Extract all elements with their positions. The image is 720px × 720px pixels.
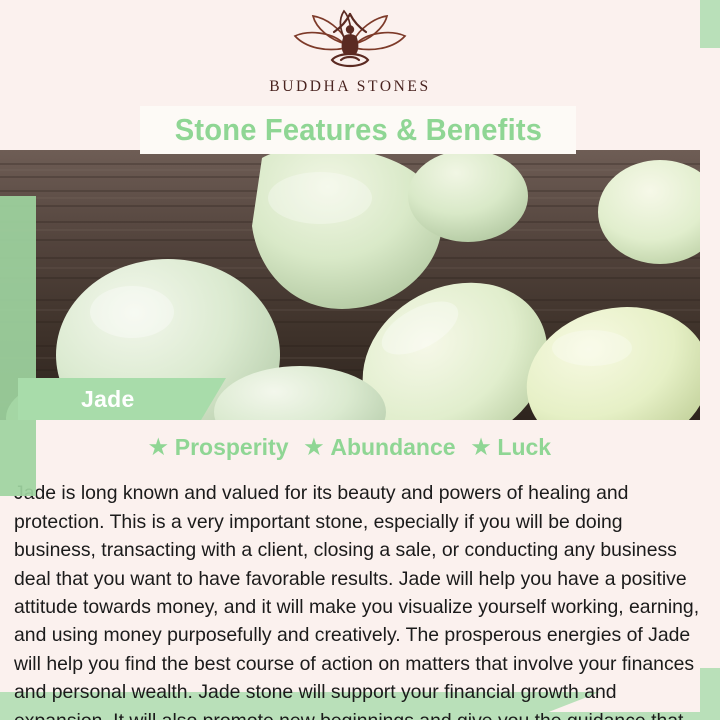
star-icon: ★ [472,437,491,458]
star-icon: ★ [149,437,168,458]
keyword-list: ★ Prosperity ★ Abundance ★ Luck [0,430,700,464]
left-green-accent [0,196,36,496]
infographic-page: BUDDHA STONES Stone Features & Benefits [0,0,720,720]
stone-name: Jade [81,386,135,413]
keyword-prosperity: ★ Prosperity [149,434,289,461]
stone-description: Jade is long known and valued for its be… [14,479,704,720]
keyword-luck: ★ Luck [472,434,552,461]
keyword-abundance: ★ Abundance [305,434,456,461]
keyword-label: Prosperity [175,434,289,461]
title-banner: Stone Features & Benefits [140,106,576,154]
brand-logo: BUDDHA STONES [0,8,700,113]
brand-name: BUDDHA STONES [269,78,430,96]
stone-name-band: Jade [18,378,226,420]
keyword-label: Abundance [330,434,455,461]
page-title: Stone Features & Benefits [174,112,541,148]
star-icon: ★ [305,437,324,458]
keyword-label: Luck [497,434,551,461]
lotus-meditation-icon [286,8,414,76]
